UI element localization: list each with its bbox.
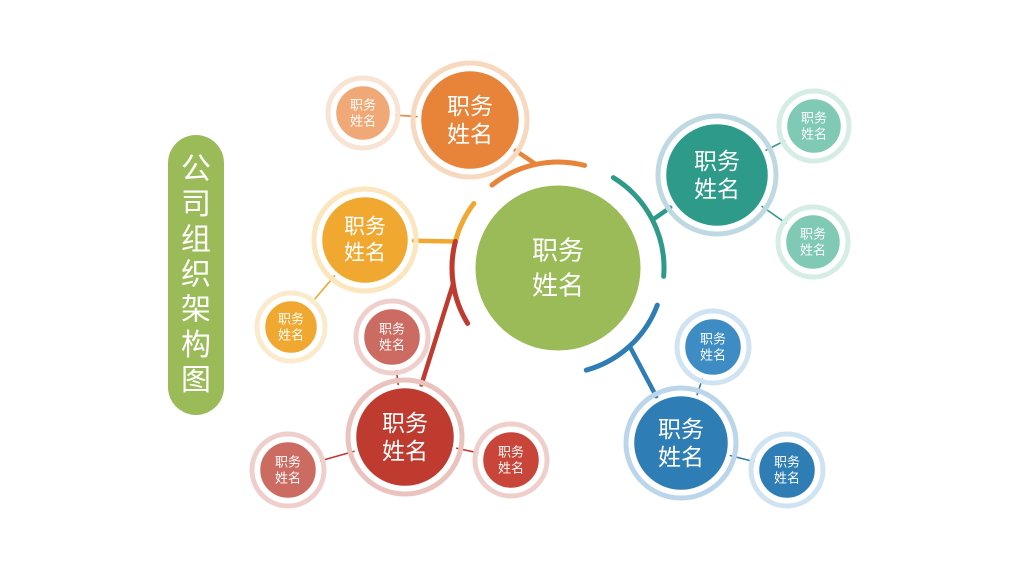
title-panel-layer: 公司组织架构图 xyxy=(168,135,224,415)
satellite-node-orange-1-label-line-0: 职务 xyxy=(350,98,376,113)
branch-node-amber-circle[interactable] xyxy=(321,196,409,284)
branch-node-red-label-line-0: 职务 xyxy=(382,410,428,436)
satellite-node-red-3-label-line-1: 姓名 xyxy=(498,460,524,475)
satellite-node-orange-1[interactable]: 职务姓名 xyxy=(328,78,398,148)
branch-node-blue-label-line-1: 姓名 xyxy=(658,444,704,470)
satellite-node-red-1[interactable]: 职务姓名 xyxy=(356,301,428,373)
branch-node-red-label-line-1: 姓名 xyxy=(382,438,428,464)
ring-arc-red xyxy=(452,241,468,323)
satellite-node-teal-2[interactable]: 职务姓名 xyxy=(778,207,848,277)
title-char-6: 图 xyxy=(181,364,211,397)
satellite-node-orange-1-label-line-1: 姓名 xyxy=(350,113,376,128)
branch-node-orange-label-line-0: 职务 xyxy=(447,93,493,119)
satellite-node-amber-1-label-line-1: 姓名 xyxy=(278,327,304,342)
satellite-node-blue-1[interactable]: 职务姓名 xyxy=(677,311,749,383)
branch-node-orange-circle[interactable] xyxy=(420,70,520,170)
satellite-node-blue-2-label-line-1: 姓名 xyxy=(774,470,800,485)
title-char-2: 组 xyxy=(181,223,211,256)
satellite-node-red-1-label-line-0: 职务 xyxy=(379,322,405,337)
title-char-1: 司 xyxy=(181,188,211,221)
satellite-node-blue-1-label-line-1: 姓名 xyxy=(700,347,726,362)
satellite-node-blue-2-label-line-0: 职务 xyxy=(774,455,800,470)
satellite-node-red-2[interactable]: 职务姓名 xyxy=(252,434,324,506)
root-node[interactable]: 职务姓名 xyxy=(474,184,642,352)
branch-node-red-circle[interactable] xyxy=(355,387,455,487)
satellite-node-teal-1-label-line-0: 职务 xyxy=(801,111,827,126)
branch-node-blue[interactable]: 职务姓名 xyxy=(626,388,736,498)
satellite-node-red-3[interactable]: 职务姓名 xyxy=(475,424,547,496)
root-node-label-line-1: 姓名 xyxy=(532,271,584,301)
branch-node-amber-label-line-0: 职务 xyxy=(344,216,386,239)
title-panel: 公司组织架构图 xyxy=(168,135,224,415)
org-chart-svg: 职务姓名职务姓名职务姓名职务姓名职务姓名职务姓名职务姓名职务姓名职务姓名 职务姓… xyxy=(0,0,1024,576)
branch-node-teal[interactable]: 职务姓名 xyxy=(658,116,776,234)
title-char-0: 公 xyxy=(181,153,211,186)
branch-node-blue-label-line-0: 职务 xyxy=(658,416,704,442)
root-node-circle[interactable] xyxy=(474,184,642,352)
root-node-layer: 职务姓名 xyxy=(474,184,642,352)
satellite-node-red-2-label-line-0: 职务 xyxy=(275,455,301,470)
satellite-node-teal-2-label-line-1: 姓名 xyxy=(800,242,826,257)
satellite-node-red-2-label-line-1: 姓名 xyxy=(275,470,301,485)
connector-root-to-blue xyxy=(630,346,657,396)
branch-node-blue-circle[interactable] xyxy=(633,395,729,491)
connector-root-to-amber xyxy=(414,241,455,242)
title-char-4: 架 xyxy=(181,294,211,327)
satellite-node-blue-2[interactable]: 职务姓名 xyxy=(751,434,823,506)
satellite-node-amber-1[interactable]: 职务姓名 xyxy=(257,293,325,361)
branch-node-teal-circle[interactable] xyxy=(665,123,769,227)
branch-node-red[interactable]: 职务姓名 xyxy=(348,380,462,494)
root-node-label-line-0: 职务 xyxy=(532,235,584,265)
satellite-node-teal-1[interactable]: 职务姓名 xyxy=(779,91,849,161)
branch-node-orange-label-line-1: 姓名 xyxy=(447,121,493,147)
title-char-3: 织 xyxy=(181,259,211,292)
satellite-node-teal-2-label-line-0: 职务 xyxy=(800,227,826,242)
branch-node-amber-label-line-1: 姓名 xyxy=(344,241,386,264)
branch-node-teal-label-line-1: 姓名 xyxy=(694,176,740,202)
org-chart-canvas: 职务姓名职务姓名职务姓名职务姓名职务姓名职务姓名职务姓名职务姓名职务姓名 职务姓… xyxy=(0,0,1024,576)
satellite-node-amber-1-label-line-0: 职务 xyxy=(278,312,304,327)
satellite-node-teal-1-label-line-1: 姓名 xyxy=(801,126,827,141)
satellite-node-blue-1-label-line-0: 职务 xyxy=(700,332,726,347)
satellite-node-red-3-label-line-0: 职务 xyxy=(498,445,524,460)
branch-node-amber[interactable]: 职务姓名 xyxy=(314,189,416,291)
satellite-node-red-1-label-line-1: 姓名 xyxy=(379,337,405,352)
title-char-5: 构 xyxy=(181,329,211,362)
branch-node-orange[interactable]: 职务姓名 xyxy=(413,63,527,177)
branch-node-teal-label-line-0: 职务 xyxy=(694,148,740,174)
